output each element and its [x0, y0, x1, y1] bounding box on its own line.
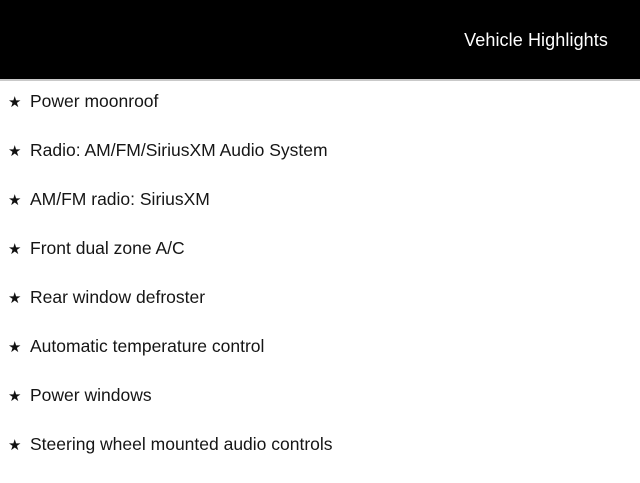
- star-icon: ★: [8, 238, 30, 260]
- list-item-label: Radio: AM/FM/SiriusXM Audio System: [30, 140, 328, 161]
- list-item-label: Automatic temperature control: [30, 336, 264, 357]
- star-icon: ★: [8, 91, 30, 113]
- list-item-label: Front dual zone A/C: [30, 238, 185, 259]
- star-icon: ★: [8, 385, 30, 407]
- page-header: Vehicle Highlights: [0, 0, 640, 79]
- list-item: ★ Radio: AM/FM/SiriusXM Audio System: [0, 140, 640, 189]
- star-icon: ★: [8, 434, 30, 456]
- list-item: ★ Power windows: [0, 385, 640, 434]
- vehicle-highlights-page: Vehicle Highlights ★ Power moonroof ★ Ra…: [0, 0, 640, 480]
- vehicle-highlights-list: ★ Power moonroof ★ Radio: AM/FM/SiriusXM…: [0, 81, 640, 483]
- list-item: ★ Rear window defroster: [0, 287, 640, 336]
- list-item-label: Power moonroof: [30, 91, 158, 112]
- list-item-label: AM/FM radio: SiriusXM: [30, 189, 210, 210]
- list-item: ★ Automatic temperature control: [0, 336, 640, 385]
- list-item: ★ Front dual zone A/C: [0, 238, 640, 287]
- list-item: ★ Power moonroof: [0, 91, 640, 140]
- list-item: ★ Steering wheel mounted audio controls: [0, 434, 640, 483]
- star-icon: ★: [8, 336, 30, 358]
- star-icon: ★: [8, 287, 30, 309]
- list-item-label: Steering wheel mounted audio controls: [30, 434, 333, 455]
- page-title: Vehicle Highlights: [464, 29, 608, 51]
- list-item: ★ AM/FM radio: SiriusXM: [0, 189, 640, 238]
- star-icon: ★: [8, 140, 30, 162]
- list-item-label: Power windows: [30, 385, 152, 406]
- star-icon: ★: [8, 189, 30, 211]
- list-item-label: Rear window defroster: [30, 287, 205, 308]
